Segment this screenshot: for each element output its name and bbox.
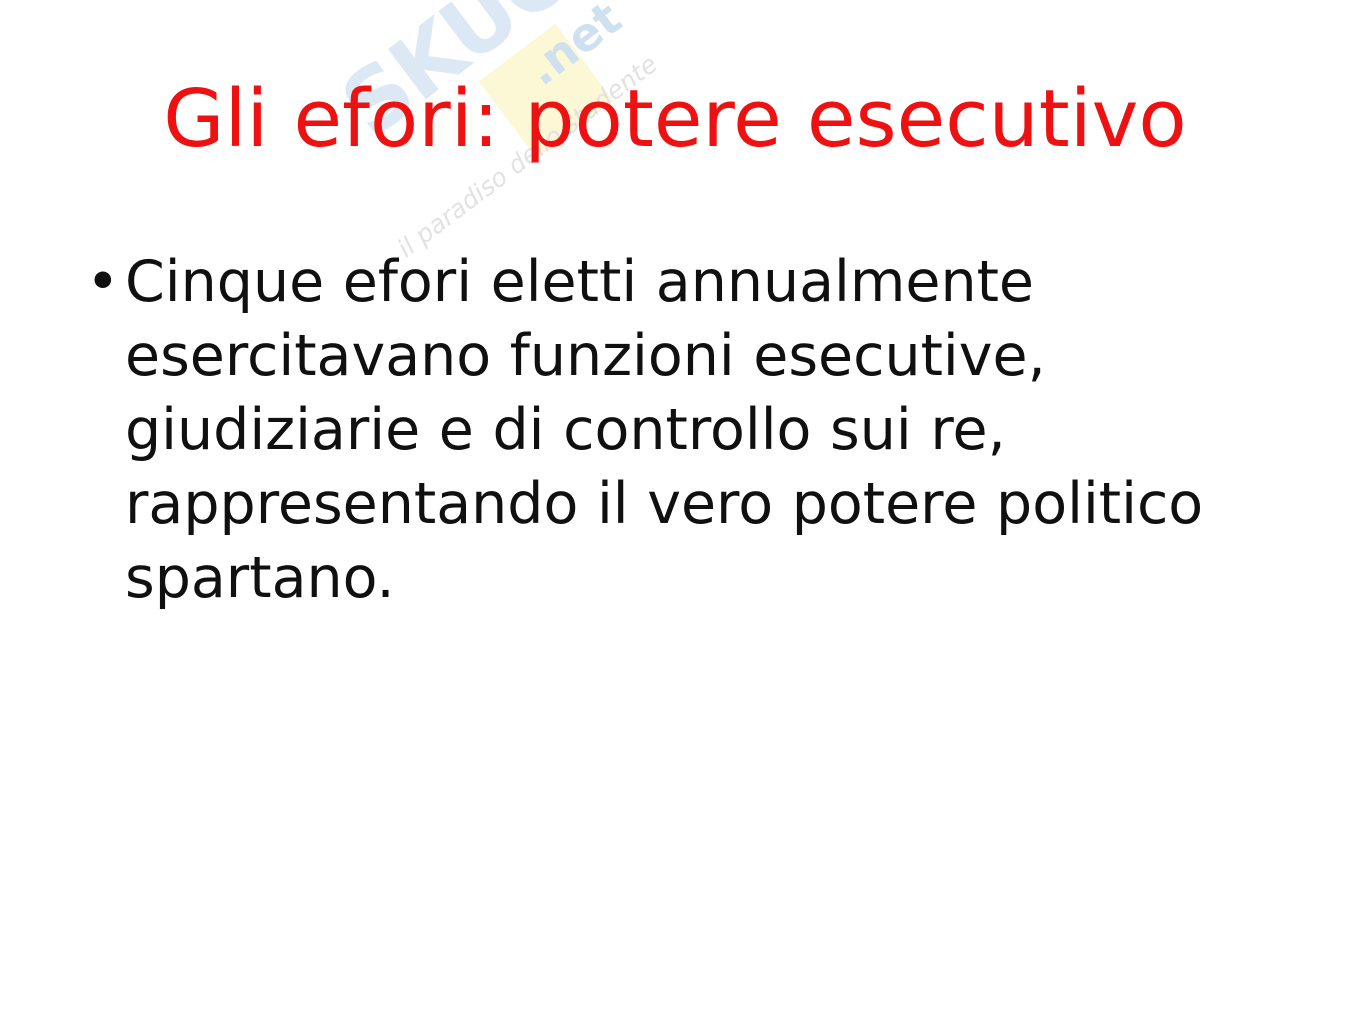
presentation-slide: SKUOLA .net il paradiso dello studente G… [0,0,1350,1013]
list-item: • Cinque efori eletti annualmente eserci… [78,245,1288,615]
slide-title: Gli efori: potere esecutivo [0,78,1350,161]
bullet-marker: • [78,245,125,319]
slide-body: • Cinque efori eletti annualmente eserci… [78,245,1288,615]
bullet-text: Cinque efori eletti annualmente esercita… [125,245,1288,615]
